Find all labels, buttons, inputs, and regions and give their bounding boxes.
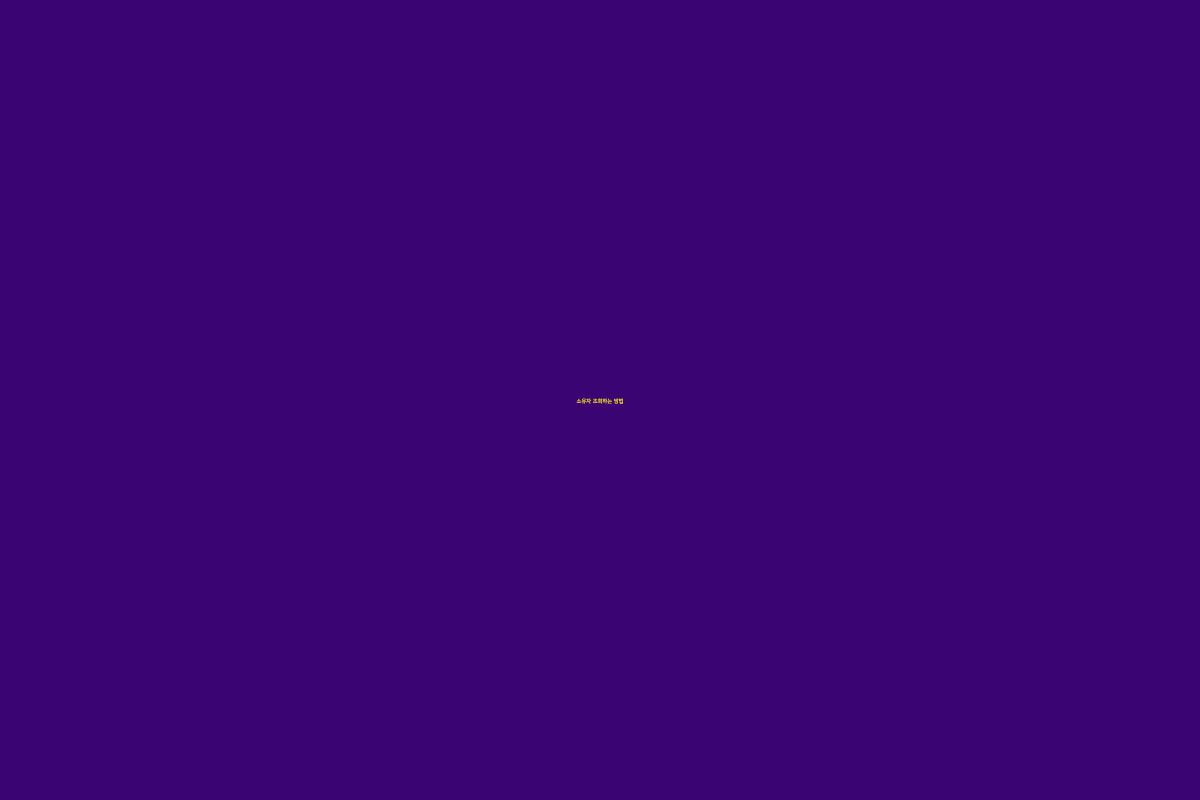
banner-canvas: 자동차 차량번호로 소유자 조회하는 방법 bbox=[0, 0, 1200, 800]
headline-line-2: 소유자 조회하는 방법 bbox=[9, 400, 1191, 406]
headline-block: 자동차 차량번호로 소유자 조회하는 방법 bbox=[0, 394, 1200, 406]
